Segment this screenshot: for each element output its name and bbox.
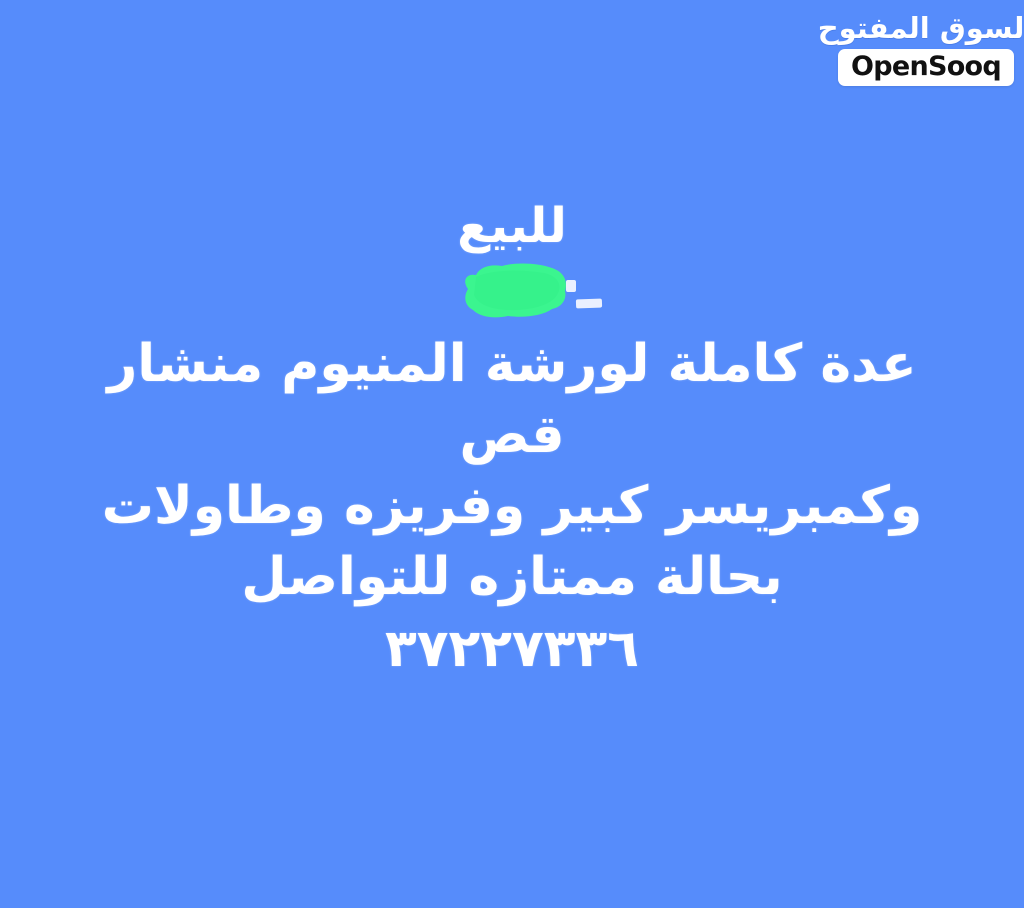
ad-headline: للبيع (0, 196, 1024, 257)
redacted-glyph-fragment (576, 299, 602, 309)
green-scribble-redaction-icon (446, 259, 578, 321)
opensooq-brand-badge-label: OpenSooq (851, 53, 1001, 81)
redaction-row (0, 257, 1024, 329)
ad-phone-number: ٣٧٢٢٧٣٣٦ (0, 614, 1024, 685)
advertisement-text-block: للبيع عدة كاملة لورشة المنيوم منشار قص و… (0, 196, 1024, 685)
opensooq-brand-badge: OpenSooq (838, 49, 1014, 86)
opensooq-watermark: السوق المفتوح OpenSooq (842, 14, 1010, 86)
ad-body-line-3: بحالة ممتازه للتواصل (0, 542, 1024, 613)
redacted-glyph-fragment (566, 280, 576, 292)
opensooq-arabic-logo: السوق المفتوح (818, 14, 1024, 43)
ad-body-line-2: وكمبريسر كبير وفريزه وطاولات (0, 471, 1024, 542)
listing-image-canvas: السوق المفتوح OpenSooq للبيع عدة كاملة ل… (0, 0, 1024, 908)
ad-body-line-1: عدة كاملة لورشة المنيوم منشار قص (0, 329, 1024, 470)
